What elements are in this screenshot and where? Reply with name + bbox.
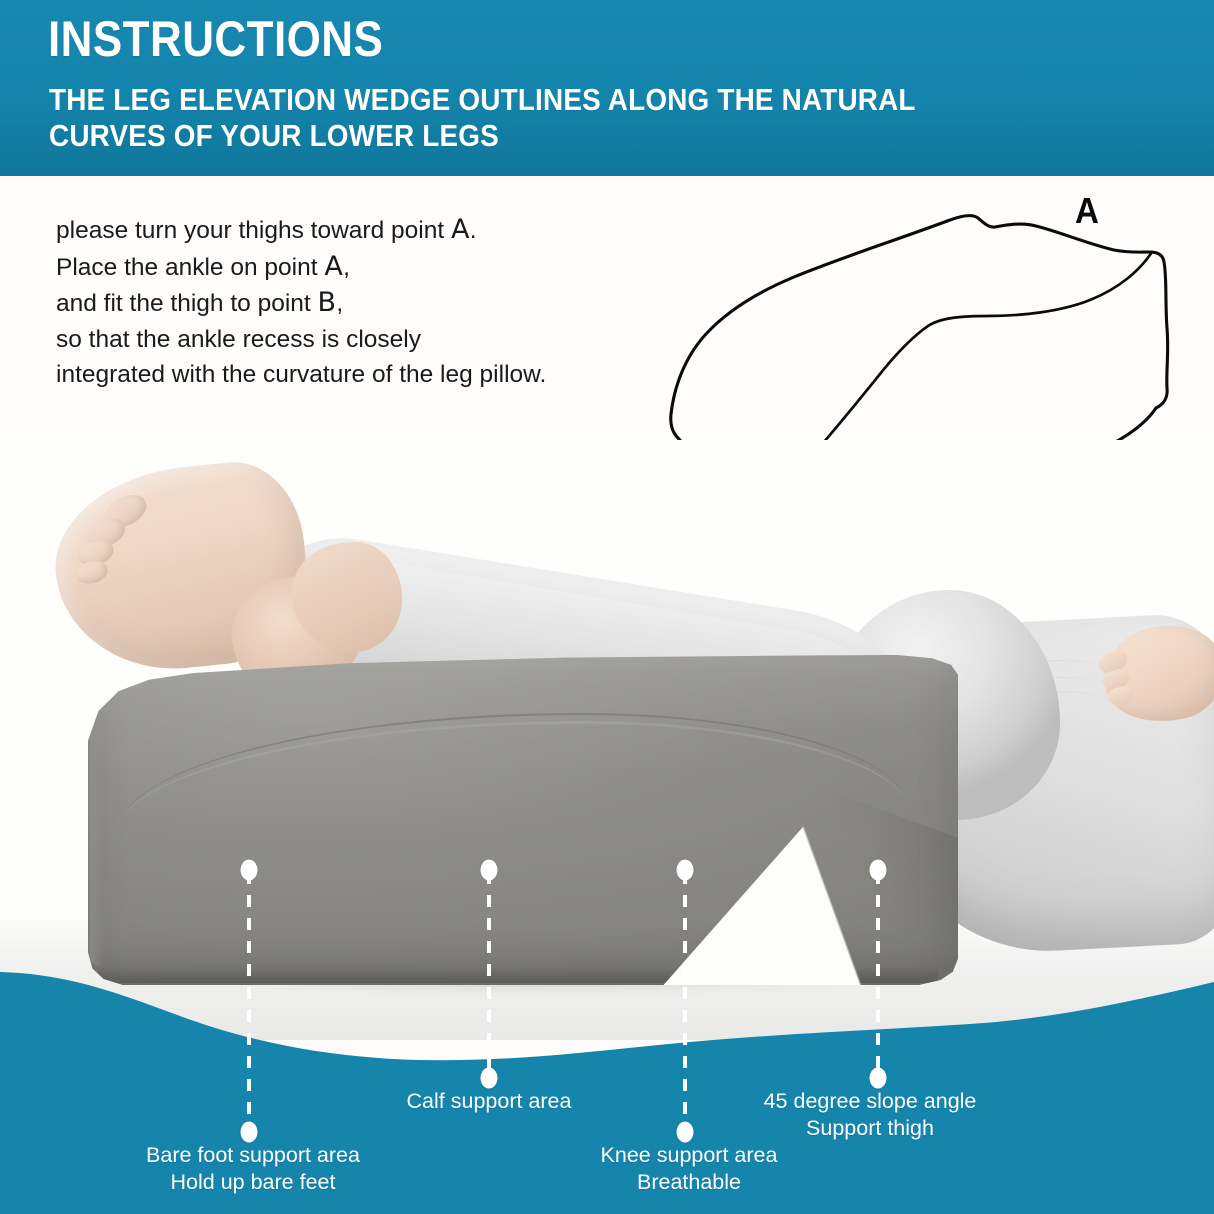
instruction-line-1-post: . bbox=[470, 217, 477, 244]
footer-banner bbox=[0, 938, 1214, 1214]
instruction-line: integrated with the curvature of the leg… bbox=[56, 357, 676, 393]
instruction-line: please turn your thighs toward point A. bbox=[56, 212, 676, 249]
product-instruction-image: INSTRUCTIONS THE LEG ELEVATION WEDGE OUT… bbox=[0, 0, 1214, 1214]
instruction-line-3-post: , bbox=[336, 290, 343, 317]
point-label-a: A bbox=[324, 251, 343, 282]
instruction-line-5-pre: integrated with the curvature of the leg… bbox=[56, 361, 546, 388]
wedge-pillow bbox=[88, 655, 958, 985]
footer-wave-shape bbox=[0, 938, 1214, 1214]
point-label-b: B bbox=[318, 287, 337, 318]
header-subtitle-line-1: THE LEG ELEVATION WEDGE OUTLINES ALONG T… bbox=[49, 82, 1075, 118]
wedge-left-edge bbox=[90, 695, 106, 965]
page-title: INSTRUCTIONS bbox=[48, 12, 383, 66]
header-subtitle-line-2: CURVES OF YOUR LOWER LEGS bbox=[49, 118, 1075, 154]
point-label-a: A bbox=[451, 214, 470, 245]
header-subtitle: THE LEG ELEVATION WEDGE OUTLINES ALONG T… bbox=[49, 82, 1075, 154]
instruction-paragraph: please turn your thighs toward point A. … bbox=[56, 212, 676, 393]
instruction-line-2-post: , bbox=[343, 254, 350, 281]
instruction-line-4-pre: so that the ankle recess is closely bbox=[56, 326, 421, 353]
instruction-line: so that the ankle recess is closely bbox=[56, 322, 676, 358]
header-banner: INSTRUCTIONS THE LEG ELEVATION WEDGE OUT… bbox=[0, 0, 1214, 176]
instruction-line-1-pre: please turn your thighs toward point bbox=[56, 217, 451, 244]
instruction-line-2-pre: Place the ankle on point bbox=[56, 254, 324, 281]
instruction-line-3-pre: and fit the thigh to point bbox=[56, 290, 318, 317]
instruction-line: Place the ankle on point A, bbox=[56, 249, 676, 286]
diagram-label-a: A bbox=[1075, 190, 1099, 232]
instruction-line: and fit the thigh to point B, bbox=[56, 285, 676, 322]
